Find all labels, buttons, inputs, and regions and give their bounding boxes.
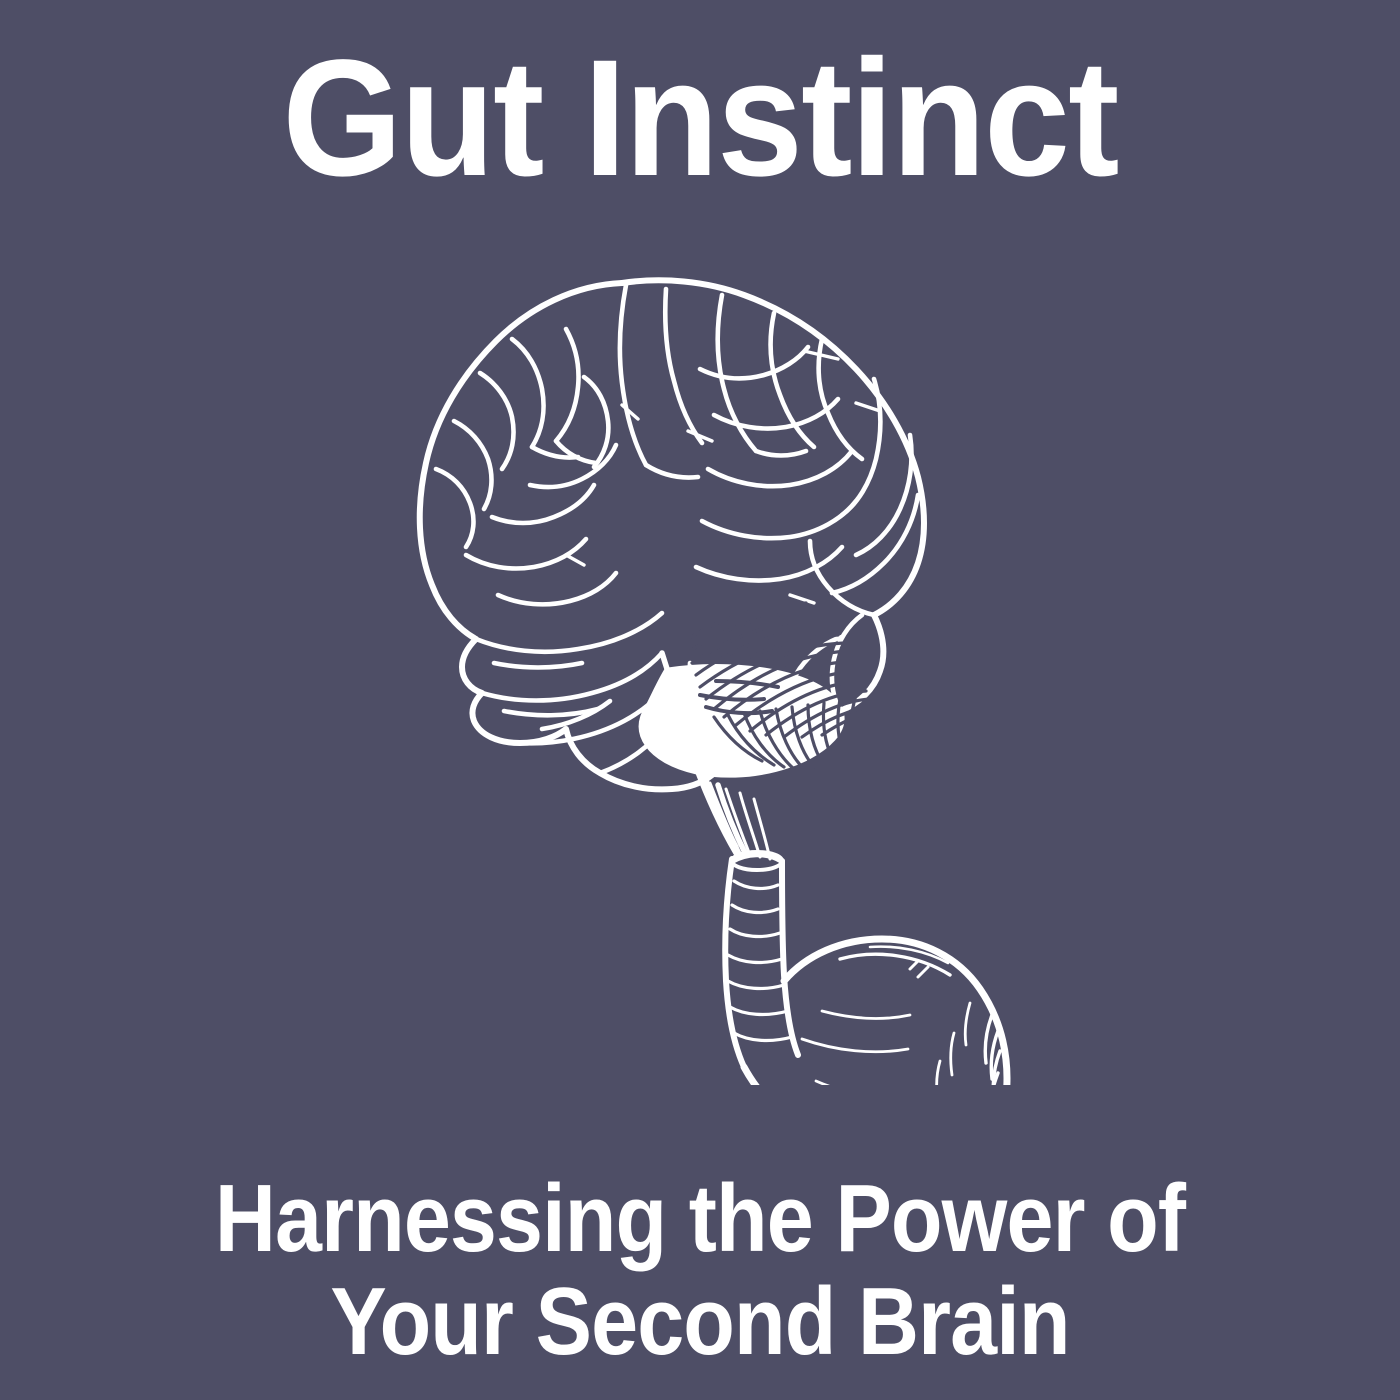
podcast-cover: Gut Instinct xyxy=(0,0,1400,1400)
subtitle-line-1: Harnessing the Power of xyxy=(84,1168,1316,1271)
brain-stomach-svg xyxy=(370,255,1030,1085)
brain-stomach-illustration xyxy=(370,255,1030,1085)
page-title: Gut Instinct xyxy=(49,36,1351,202)
subtitle: Harnessing the Power of Your Second Brai… xyxy=(84,1168,1316,1373)
subtitle-line-2: Your Second Brain xyxy=(84,1271,1316,1374)
